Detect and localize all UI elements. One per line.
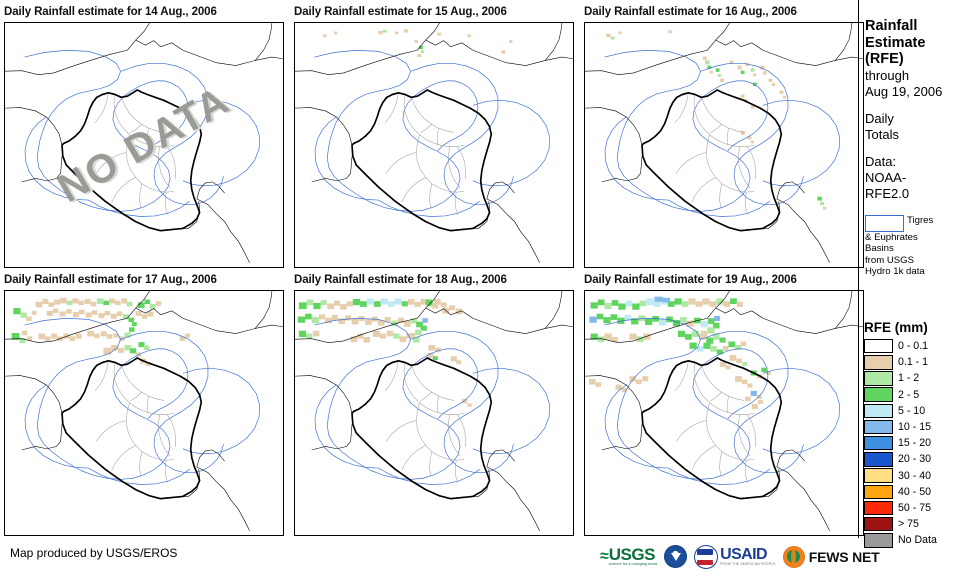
- sidebar-through-label: through: [865, 68, 967, 84]
- legend-label: 20 - 30: [898, 453, 931, 465]
- usgs-logo-tagline: science for a changing world: [609, 563, 657, 567]
- legend-swatch: [864, 387, 893, 402]
- legend-label: 2 - 5: [898, 389, 919, 401]
- panel-title: Daily Rainfall estimate for 14 Aug., 200…: [0, 2, 290, 22]
- legend-label: 5 - 10: [898, 405, 925, 417]
- basin-lines: [314, 50, 549, 216]
- rainfall-cells: [323, 29, 513, 57]
- admin-boundaries: [385, 361, 466, 483]
- sidebar-data-label: Data:: [865, 154, 967, 170]
- legend-row: 5 - 10: [864, 403, 964, 419]
- country-boundaries: [585, 23, 863, 263]
- sidebar-title-line1: Rainfall: [865, 18, 967, 35]
- map-frame: [584, 290, 864, 536]
- usgs-logo: ≈ USGS science for a changing world: [600, 546, 657, 567]
- iraq-border: [642, 358, 781, 499]
- basin-lines: [314, 318, 549, 484]
- panel-title: Daily Rainfall estimate for 15 Aug., 200…: [290, 2, 580, 22]
- sidebar-totals-line2: Totals: [865, 127, 967, 143]
- legend-label: 40 - 50: [898, 486, 931, 498]
- map-panel-4: Daily Rainfall estimate for 17 Aug., 200…: [0, 270, 290, 538]
- rainfall-cells: [589, 297, 771, 409]
- basin-swatch: [865, 215, 904, 232]
- legend-label: 10 - 15: [898, 421, 931, 433]
- legend-title: RFE (mm): [864, 320, 964, 335]
- map-canvas: [5, 23, 283, 267]
- map-canvas: [295, 291, 573, 535]
- legend-label: No Data: [898, 534, 937, 546]
- map-frame: NO DATA: [4, 22, 284, 268]
- legend-swatch: [864, 404, 893, 419]
- legend-label: 15 - 20: [898, 437, 931, 449]
- rainfall-cells: [298, 298, 472, 406]
- map-canvas: [295, 23, 573, 267]
- basin-label-line4: from USGS: [865, 255, 967, 267]
- sidebar-data-source: Data: NOAA- RFE2.0: [865, 154, 967, 202]
- iraq-border: [352, 358, 491, 499]
- map-panel-6: Daily Rainfall estimate for 19 Aug., 200…: [580, 270, 870, 538]
- legend-row: 50 - 75: [864, 500, 964, 516]
- legend-row: 0 - 0.1: [864, 338, 964, 354]
- legend-label: > 75: [898, 518, 919, 530]
- admin-boundaries: [675, 93, 756, 215]
- legend-label: 30 - 40: [898, 470, 931, 482]
- usaid-logo-text: USAID: [720, 547, 776, 563]
- map-canvas: [585, 23, 863, 267]
- admin-boundaries: [95, 361, 176, 483]
- legend-swatch: [864, 420, 893, 435]
- legend-label: 0 - 0.1: [898, 340, 928, 352]
- footer-credit: Map produced by USGS/EROS: [10, 546, 177, 560]
- country-boundaries: [295, 291, 573, 531]
- usgs-wave-icon: ≈: [600, 549, 609, 565]
- sidebar-through-date: Aug 19, 2006: [865, 84, 967, 100]
- map-panel-1: Daily Rainfall estimate for 14 Aug., 200…: [0, 2, 290, 270]
- legend-swatch: [864, 485, 893, 500]
- fews-net-logo: FEWS NET: [783, 546, 880, 568]
- legend-swatch: [864, 501, 893, 516]
- legend-row: 10 - 15: [864, 419, 964, 435]
- map-panel-3: Daily Rainfall estimate for 16 Aug., 200…: [580, 2, 870, 270]
- legend-label: 50 - 75: [898, 502, 931, 514]
- legend-label: 1 - 2: [898, 372, 919, 384]
- country-boundaries: [5, 291, 283, 531]
- admin-boundaries: [95, 93, 176, 215]
- legend-row: 0.1 - 1: [864, 354, 964, 370]
- map-canvas: [585, 291, 863, 535]
- usaid-logo: USAID FROM THE AMERICAN PEOPLE: [694, 545, 776, 569]
- legend-swatch: [864, 452, 893, 467]
- country-boundaries: [5, 23, 283, 263]
- basin-label-line2: & Euphrates: [865, 232, 967, 244]
- basin-lines: [604, 50, 839, 216]
- country-boundaries: [585, 291, 863, 531]
- map-panel-5: Daily Rainfall estimate for 18 Aug., 200…: [290, 270, 580, 538]
- legend-swatch: [864, 355, 893, 370]
- basin-label-line5: Hydro 1k data: [865, 266, 967, 278]
- sidebar-data-source-line2: RFE2.0: [865, 186, 967, 202]
- fews-globe-icon: [783, 546, 805, 568]
- legend-row: 1 - 2: [864, 370, 964, 386]
- basin-label-line1: Tigres: [907, 215, 933, 227]
- sidebar-data-source-line1: NOAA-: [865, 170, 967, 186]
- usgs-logo-text: USGS: [609, 546, 657, 563]
- sidebar-totals: Daily Totals: [865, 111, 967, 143]
- panel-title: Daily Rainfall estimate for 18 Aug., 200…: [290, 270, 580, 290]
- iraq-border: [62, 90, 201, 231]
- basin-legend-entry: Tigres: [865, 215, 967, 232]
- legend-swatch: [864, 371, 893, 386]
- rainfall-cells: [12, 298, 190, 366]
- panel-title: Daily Rainfall estimate for 16 Aug., 200…: [580, 2, 870, 22]
- map-panel-grid: Daily Rainfall estimate for 14 Aug., 200…: [0, 0, 858, 538]
- iraq-border: [62, 358, 201, 499]
- legend-row: 15 - 20: [864, 435, 964, 451]
- iraq-border: [352, 90, 491, 231]
- sidebar-title-line2: Estimate: [865, 35, 967, 52]
- map-frame: [4, 290, 284, 536]
- noaa-logo: [664, 545, 687, 568]
- iraq-border: [642, 90, 781, 231]
- legend-row: 30 - 40: [864, 468, 964, 484]
- usaid-logo-tagline: FROM THE AMERICAN PEOPLE: [720, 563, 776, 566]
- legend-swatch: [864, 517, 893, 532]
- fews-logo-text: FEWS NET: [809, 549, 880, 565]
- map-frame: [294, 290, 574, 536]
- panel-title: Daily Rainfall estimate for 17 Aug., 200…: [0, 270, 290, 290]
- map-frame: [294, 22, 574, 268]
- basin-label-line3: Basins: [865, 243, 967, 255]
- legend-row: 2 - 5: [864, 387, 964, 403]
- legend-row: 40 - 50: [864, 484, 964, 500]
- sidebar-title-line3: (RFE): [865, 51, 967, 68]
- usaid-seal-icon: [694, 545, 718, 569]
- legend-swatch: [864, 436, 893, 451]
- basin-lines: [604, 318, 839, 484]
- sidebar-totals-line1: Daily: [865, 111, 967, 127]
- noaa-seal-icon: [664, 545, 687, 568]
- rfe-legend: RFE (mm) 0 - 0.10.1 - 11 - 22 - 55 - 101…: [864, 320, 964, 548]
- admin-boundaries: [385, 93, 466, 215]
- legend-row: > 75: [864, 516, 964, 532]
- partner-logo-bar: ≈ USGS science for a changing world USAI…: [600, 541, 879, 572]
- legend-swatch: [864, 339, 893, 354]
- legend-row: 20 - 30: [864, 451, 964, 467]
- country-boundaries: [295, 23, 573, 263]
- legend-swatch: [864, 468, 893, 483]
- panel-title: Daily Rainfall estimate for 19 Aug., 200…: [580, 270, 870, 290]
- basin-lines: [24, 50, 259, 216]
- map-frame: [584, 22, 864, 268]
- admin-boundaries: [675, 361, 756, 483]
- legend-rows: 0 - 0.10.1 - 11 - 22 - 55 - 1010 - 1515 …: [864, 338, 964, 548]
- map-canvas: [5, 291, 283, 535]
- legend-label: 0.1 - 1: [898, 356, 928, 368]
- map-panel-2: Daily Rainfall estimate for 15 Aug., 200…: [290, 2, 580, 270]
